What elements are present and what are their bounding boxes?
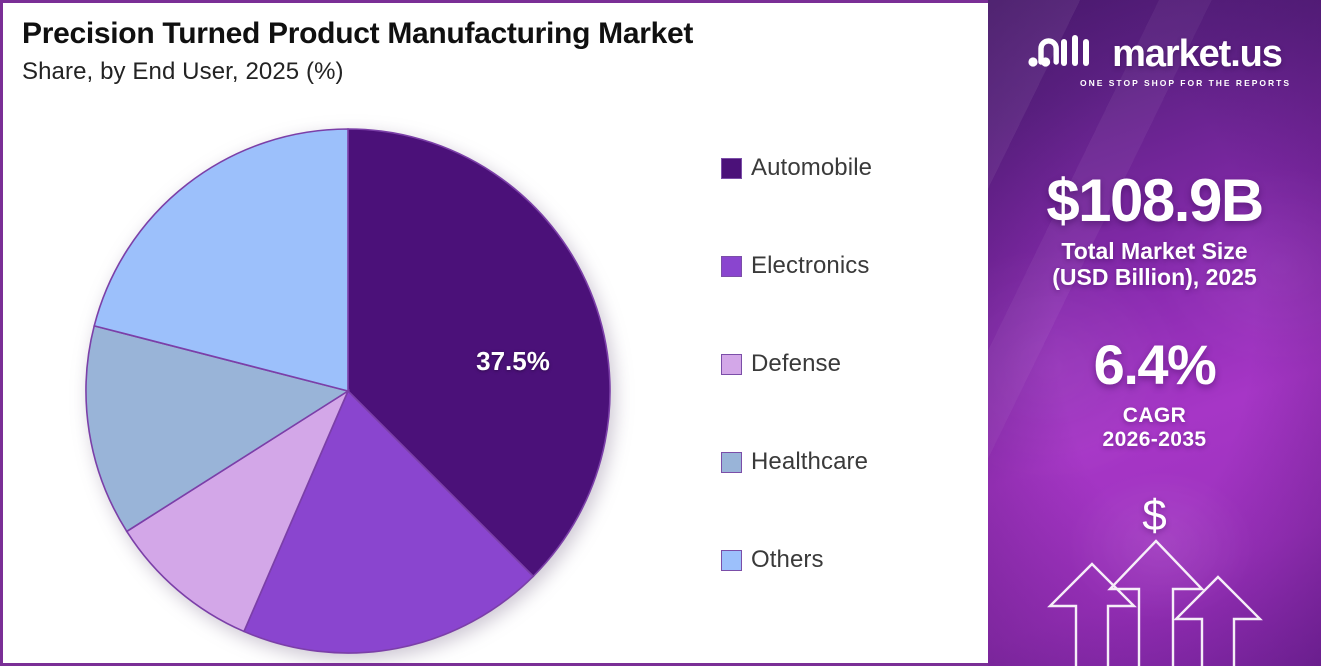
market-size-block: $108.9B Total Market Size (USD Billion),…	[988, 170, 1321, 291]
brand-name: market.us	[1112, 35, 1282, 73]
legend-item-defense[interactable]: Defense	[721, 347, 971, 381]
legend-swatch-icon	[721, 158, 742, 179]
legend-label: Healthcare	[751, 448, 868, 476]
up-arrow-icon	[1176, 577, 1260, 666]
legend-swatch-icon	[721, 256, 742, 277]
dollar-symbol: $	[988, 494, 1321, 538]
infographic-root: Precision Turned Product Manufacturing M…	[0, 0, 1321, 666]
cagr-caption-line1: CAGR	[1123, 404, 1186, 427]
chart-panel: Precision Turned Product Manufacturing M…	[0, 0, 988, 666]
legend-label: Electronics	[751, 252, 869, 280]
cagr-value: 6.4%	[988, 336, 1321, 394]
cagr-caption: CAGR 2026-2035	[988, 404, 1321, 453]
legend-swatch-icon	[721, 452, 742, 473]
chart-subtitle: Share, by End User, 2025 (%)	[22, 58, 693, 86]
legend-label: Automobile	[751, 154, 872, 182]
up-arrow-icon	[1110, 541, 1202, 666]
market-size-caption-line2: (USD Billion), 2025	[1052, 264, 1256, 290]
legend-item-others[interactable]: Others	[721, 543, 971, 577]
pie-svg	[83, 126, 613, 656]
up-arrow-icon	[1050, 564, 1134, 666]
market-size-caption: Total Market Size (USD Billion), 2025	[988, 238, 1321, 291]
legend-swatch-icon	[721, 354, 742, 375]
market-us-logo-icon	[1027, 33, 1101, 74]
legend-label: Others	[751, 546, 824, 574]
market-size-caption-line1: Total Market Size	[1061, 238, 1247, 264]
page-title: Precision Turned Product Manufacturing M…	[22, 17, 693, 51]
pie-chart: 37.5%	[83, 126, 613, 656]
market-size-value: $108.9B	[988, 170, 1321, 232]
legend-item-electronics[interactable]: Electronics	[721, 249, 971, 283]
brand-block: market.us ONE STOP SHOP FOR THE REPORTS	[988, 33, 1321, 88]
legend-item-healthcare[interactable]: Healthcare	[721, 445, 971, 479]
pie-slice-group	[86, 129, 610, 653]
stats-panel: market.us ONE STOP SHOP FOR THE REPORTS …	[988, 0, 1321, 666]
cagr-block: 6.4% CAGR 2026-2035	[988, 336, 1321, 452]
brand-tagline: ONE STOP SHOP FOR THE REPORTS	[1050, 78, 1321, 88]
growth-arrows-decor: $	[988, 486, 1321, 666]
legend-item-automobile[interactable]: Automobile	[721, 151, 971, 185]
title-block: Precision Turned Product Manufacturing M…	[22, 17, 693, 86]
chart-legend: Automobile Electronics Defense Healthcar…	[721, 151, 971, 577]
legend-label: Defense	[751, 350, 841, 378]
legend-swatch-icon	[721, 550, 742, 571]
cagr-caption-line2: 2026-2035	[1102, 428, 1206, 451]
